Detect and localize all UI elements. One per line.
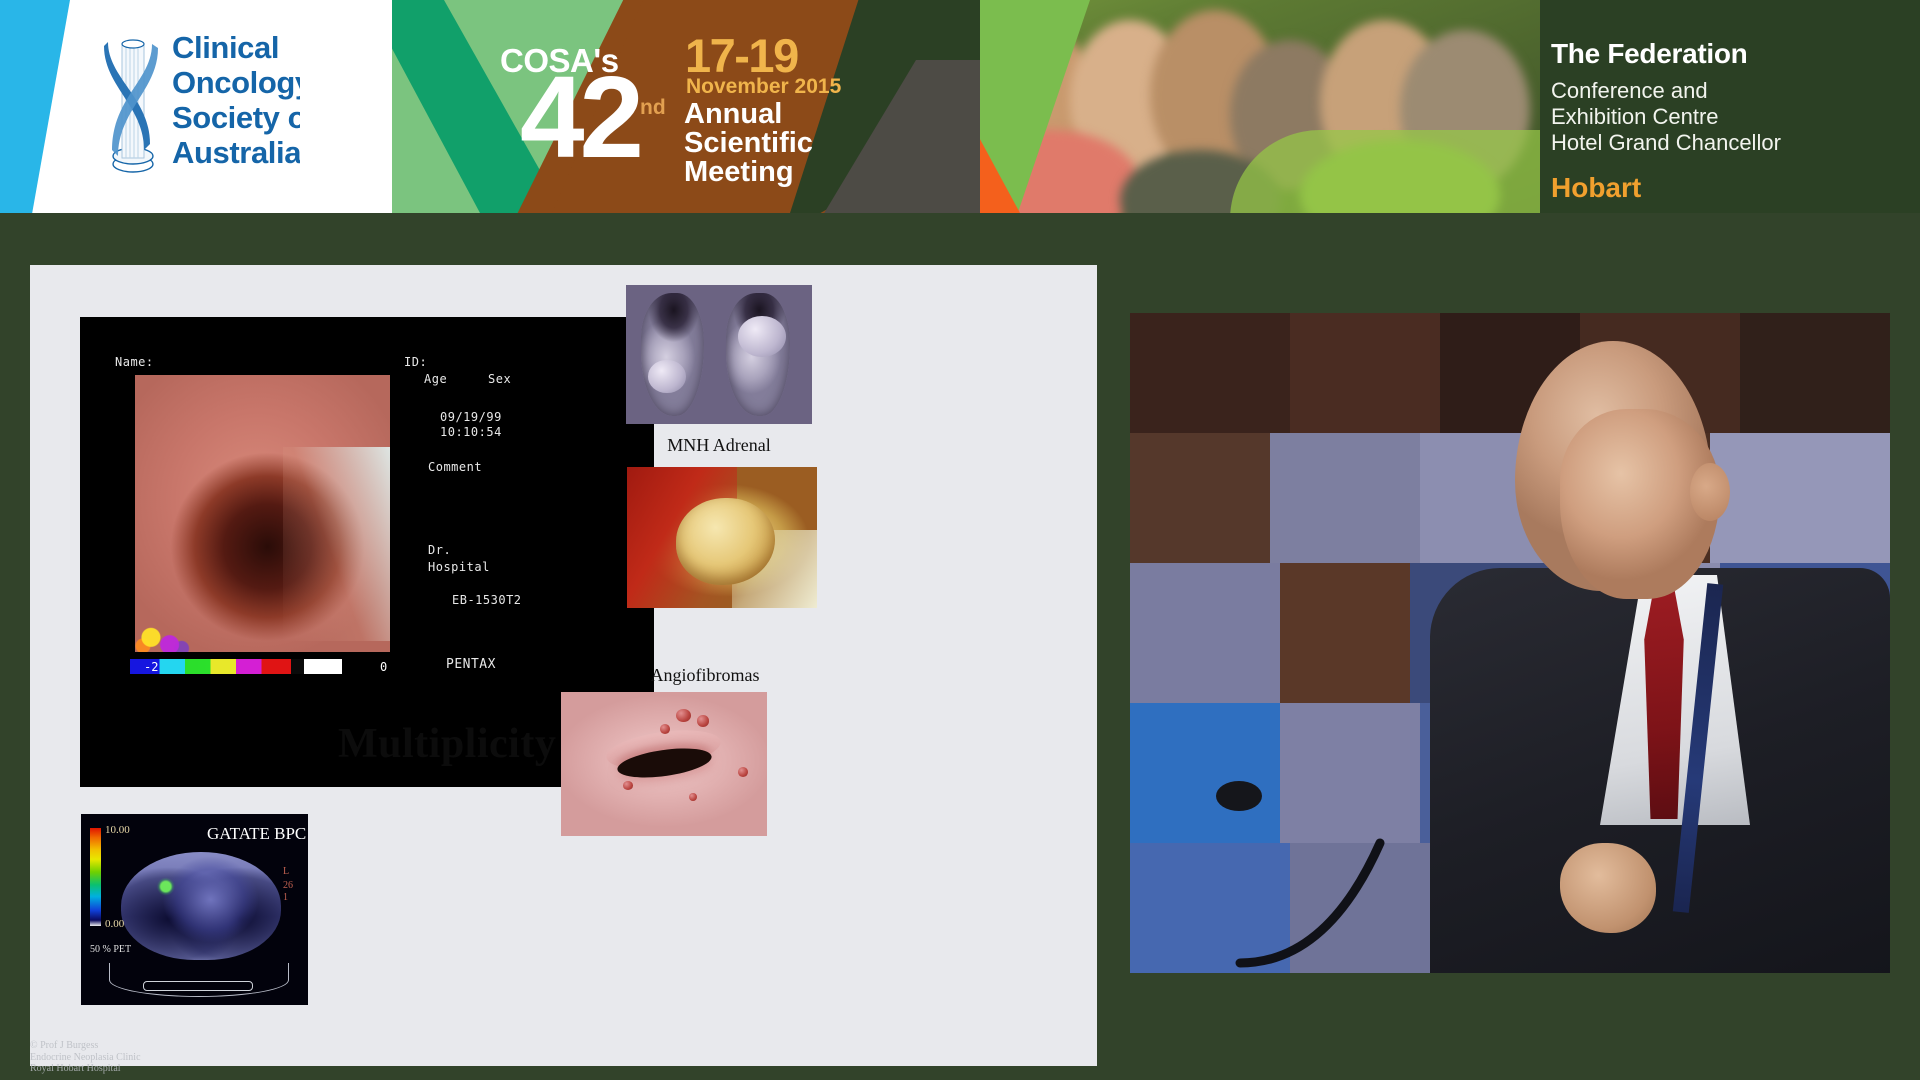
slide-title: Multiplicity	[338, 720, 556, 768]
pet-title: GATATE BPC	[207, 824, 306, 844]
cosa-column-dna-logo-icon	[102, 32, 160, 180]
venue-line-3: Hotel Grand Chancellor	[1551, 130, 1781, 156]
papule-2	[697, 715, 709, 727]
colorbar-mid-value: -2	[302, 660, 316, 674]
endoscopy-doctor-label: Dr.	[428, 543, 451, 557]
presentation-screen: Clinical Oncology Society of Australia C…	[0, 0, 1920, 1080]
pet-color-scale	[90, 828, 101, 926]
angiofibromas-skin-image	[561, 692, 767, 836]
attribution-line-1: © Prof J Burgess	[30, 1040, 310, 1052]
endoscopy-sex-label: Sex	[488, 372, 511, 386]
speaker-ear	[1690, 463, 1730, 521]
gross-specimen-image	[627, 467, 817, 608]
meeting-line-1: Annual	[684, 100, 813, 129]
endoscopy-lumen-view	[135, 375, 390, 652]
logo-line-4: Australia	[172, 135, 316, 170]
adrenal-nodule-2	[648, 360, 685, 393]
pet-side-marker-digits: 261	[283, 880, 297, 904]
logo-cyan-wedge-2	[0, 0, 70, 213]
pet-table-rail	[143, 981, 253, 991]
papule-5	[623, 781, 633, 790]
adrenal-histology-image	[626, 285, 812, 424]
papule-3	[660, 724, 670, 734]
papule-1	[676, 709, 690, 722]
endoscopy-age-label: Age	[424, 372, 447, 386]
event-month-year: November 2015	[686, 75, 841, 99]
logo-line-2: Oncology	[172, 65, 316, 100]
endoscopy-id-label: ID:	[404, 355, 427, 369]
papule-6	[689, 793, 697, 802]
endoscopy-vendor-label: PENTAX	[446, 657, 496, 672]
pet-thorax-slice	[121, 852, 281, 960]
colorbar-right-value: 0	[380, 660, 387, 674]
pet-scale-min: 0.00	[105, 918, 124, 930]
endoscopy-time: 10:10:54	[440, 425, 502, 439]
attribution-line-3: Royal Hobart Hospital	[30, 1063, 310, 1075]
pet-footer-label: 50 % PET	[90, 944, 131, 955]
attribution-line-2: Endocrine Neoplasia Clinic	[30, 1052, 310, 1064]
venue-line-1: Conference and	[1551, 78, 1781, 104]
speaker-hand	[1560, 843, 1656, 933]
adrenal-caption: MNH Adrenal	[626, 435, 812, 456]
venue-title: The Federation	[1551, 38, 1748, 70]
event-number: 42	[520, 62, 639, 172]
event-meeting-title: Annual Scientific Meeting	[684, 100, 813, 187]
colorbar-left-value: -2	[144, 660, 158, 674]
slide-panel: Name: ID: Age Sex 09/19/99 10:10:54 Comm…	[30, 265, 1097, 1066]
pet-side-marker-l: L	[283, 866, 289, 877]
endoscopy-comment-label: Comment	[428, 460, 482, 474]
meeting-line-2: Scientific	[684, 129, 813, 158]
pet-scale-max: 10.00	[105, 824, 130, 836]
microphone-head-icon	[1216, 781, 1262, 811]
endoscopy-autofluorescence-speckle	[135, 591, 268, 652]
adrenal-nodule-1	[738, 316, 786, 358]
venue-city: Hobart	[1551, 172, 1641, 204]
papule-4	[738, 767, 748, 777]
event-ordinal: nd	[640, 96, 666, 120]
logo-line-1: Clinical	[172, 30, 316, 65]
endoscopy-name-label: Name:	[115, 355, 154, 369]
endoscopy-scope-id: EB-1530T2	[452, 593, 522, 607]
adrenal-gland-left	[641, 293, 704, 415]
endoscopy-glare	[283, 447, 390, 641]
speaker-video-panel[interactable]	[1130, 313, 1890, 973]
conference-banner: Clinical Oncology Society of Australia C…	[0, 0, 1920, 213]
pet-ct-image: 10.00 0.00 50 % PET GATATE BPC L 261	[81, 814, 308, 1005]
meeting-line-3: Meeting	[684, 158, 813, 187]
pet-table-outline	[109, 963, 289, 997]
endoscopy-date: 09/19/99	[440, 410, 502, 424]
venue-address: Conference and Exhibition Centre Hotel G…	[1551, 78, 1781, 156]
slide-attribution: © Prof J Burgess Endocrine Neoplasia Cli…	[30, 1040, 310, 1075]
endoscopy-hospital-label: Hospital	[428, 560, 490, 574]
logo-line-3: Society of	[172, 100, 316, 135]
microphone-stand-icon	[1230, 813, 1450, 973]
venue-line-2: Exhibition Centre	[1551, 104, 1781, 130]
cosa-logo-text: Clinical Oncology Society of Australia	[172, 30, 316, 170]
angiofibromas-caption: Angiofibromas	[590, 665, 820, 686]
